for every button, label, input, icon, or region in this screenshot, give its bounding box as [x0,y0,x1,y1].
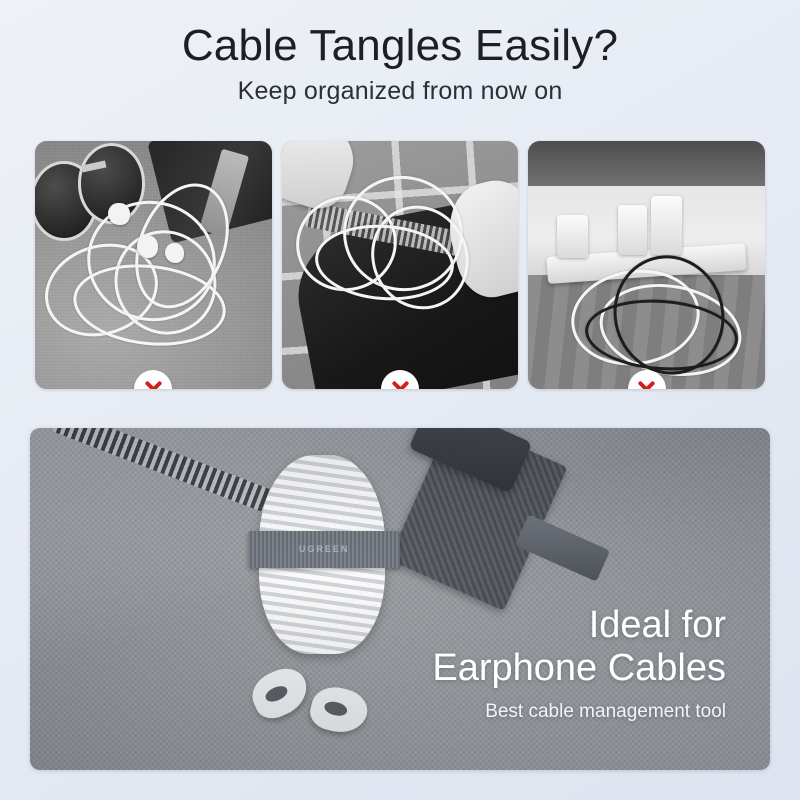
photo-content-tangled-earphones [35,141,272,389]
problem-photo-row [35,141,765,389]
photo-content-cable-in-pouch [282,141,519,389]
hero-title-line1: Ideal for [432,604,726,647]
header: Cable Tangles Easily? Keep organized fro… [0,22,800,105]
page-subtitle: Keep organized from now on [0,78,800,106]
problem-photo-power-strip [528,141,765,389]
hero-title-line2: Earphone Cables [432,647,726,690]
problem-photo-tangled-earphones [35,141,272,389]
page-title: Cable Tangles Easily? [0,22,800,70]
photo-content-power-strip [528,141,765,389]
hero-photo: UGREEN Ideal for Earphone Cables Best ca… [30,428,770,770]
hero-overlay-text: Ideal for Earphone Cables Best cable man… [432,604,726,723]
product-infographic: Cable Tangles Easily? Keep organized fro… [0,0,800,800]
hero-tagline: Best cable management tool [432,701,726,723]
problem-photo-cable-in-pouch [282,141,519,389]
